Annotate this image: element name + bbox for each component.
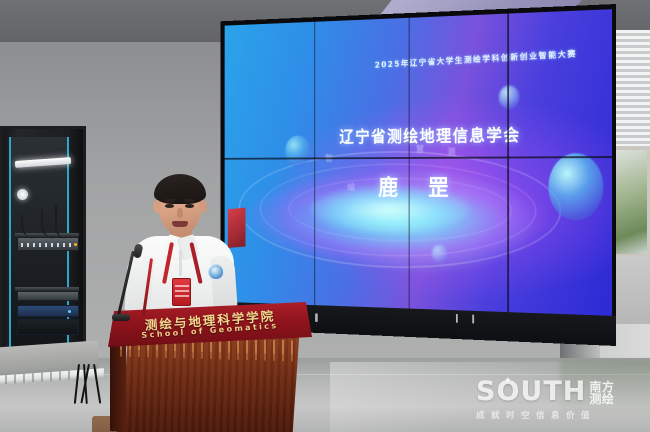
rack-server-unit[interactable]: [17, 319, 79, 335]
rack-light-spot: [17, 189, 28, 200]
screen-orb-small: [432, 245, 448, 263]
watermark-cn-line1: 南方: [589, 381, 614, 393]
photo-scene: 2025年辽宁省大学生测绘学科创新创业智能大赛 辽宁省测绘地理信息学会 鹿 罡 …: [0, 0, 650, 432]
screen-faint-label: 绘: [347, 181, 356, 193]
sparkle-icon: ✦: [504, 377, 513, 386]
watermark-brand-latin: SOUTH: [476, 378, 586, 405]
speaker-mouth: [172, 221, 188, 227]
speaker-eye-right: [185, 204, 194, 208]
bezel-seam-vertical: [507, 14, 508, 313]
speaker-person: [126, 170, 238, 320]
rack-patch-panel[interactable]: [17, 237, 79, 251]
shirt-logo-icon: [208, 264, 224, 280]
watermark-tagline: 成就时空信息价值: [476, 409, 650, 421]
screen-speaker-name-text: 鹿 罡: [378, 169, 460, 202]
screen-banner-text: 2025年辽宁省大学生测绘学科创新创业智能大赛: [374, 47, 577, 70]
base-light-mark: [316, 313, 318, 321]
rack-cable: [55, 205, 67, 239]
watermark-logo: SOUTH ✦ 南方 测绘 成就时空信息价值: [476, 378, 650, 428]
rack-light-tube: [15, 157, 71, 168]
screen-faint-label: 慧: [416, 143, 425, 155]
rack-status-led: [68, 310, 71, 313]
base-light-mark: [456, 314, 458, 323]
rack-port-row: [21, 243, 71, 247]
speaker-ear-left: [153, 200, 161, 213]
speaker-ear-right: [199, 200, 207, 213]
cable-bundle: [76, 364, 100, 422]
screen-faint-label: 测: [447, 145, 456, 158]
watermark-brand-chinese: 南方 测绘: [589, 381, 614, 405]
screen-speaker-name: 鹿 罡: [225, 169, 612, 203]
rack-blank-panel: [17, 291, 79, 301]
microphone-base: [112, 314, 130, 321]
rack-frame: [0, 126, 86, 366]
bezel-seam-vertical: [408, 18, 409, 309]
screen-title-text: 辽宁省测绘地理信息学会: [339, 121, 520, 147]
watermark-row: SOUTH ✦ 南方 测绘: [476, 378, 650, 405]
bezel-seam-vertical: [314, 22, 315, 305]
speaker-shirt-placket: [179, 250, 182, 276]
video-wall-screen[interactable]: 2025年辽宁省大学生测绘学科创新创业智能大赛 辽宁省测绘地理信息学会 鹿 罡 …: [225, 9, 612, 316]
speaker-nose: [177, 208, 183, 218]
screen-orb-small: [499, 85, 519, 109]
led-video-wall[interactable]: 2025年辽宁省大学生测绘学科创新创业智能大赛 辽宁省测绘地理信息学会 鹿 罡 …: [221, 4, 616, 346]
screen-banner: 2025年辽宁省大学生测绘学科创新创业智能大赛: [225, 43, 612, 73]
rack-switch[interactable]: [17, 305, 79, 317]
watermark-cn-line2: 测绘: [589, 393, 614, 405]
podium: 测绘与地理科学学院 School of Geomatics: [100, 300, 312, 432]
speaker-hair: [154, 174, 206, 204]
rack-interior: [9, 137, 69, 357]
base-light-mark: [472, 315, 474, 324]
equipment-rack[interactable]: [0, 126, 94, 388]
speaker-eye-left: [165, 204, 174, 208]
rack-status-led: [74, 243, 77, 246]
